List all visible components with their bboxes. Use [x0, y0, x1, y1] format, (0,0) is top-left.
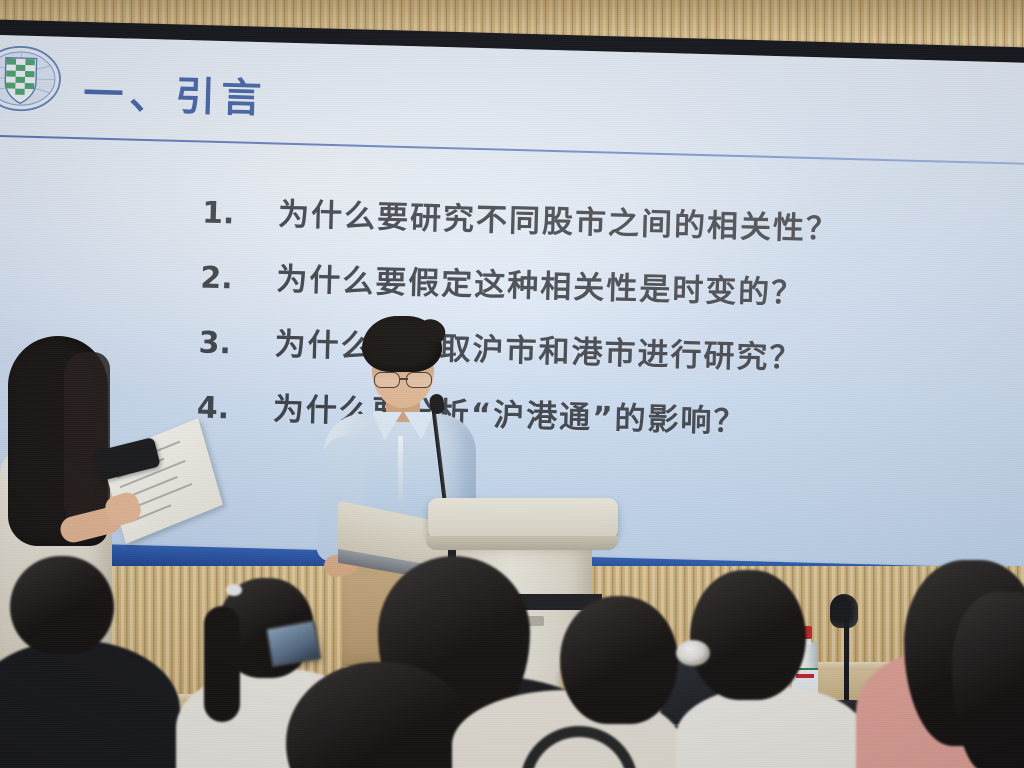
glasses-icon — [372, 372, 434, 387]
audience-head — [952, 592, 1024, 768]
shirt-collar — [372, 412, 434, 442]
audience-head — [10, 556, 114, 654]
lectern-lip — [426, 536, 618, 550]
presenter-hair — [362, 316, 442, 372]
hair-tie — [226, 584, 242, 596]
phone-device — [265, 620, 317, 663]
presentation-photo: 一、引言 1. 为什么要研究不同股市之间的相关性？ 2. 为什么要假定这种相关性… — [0, 0, 1024, 768]
audience-head — [690, 570, 806, 700]
desk-microphone-stem — [844, 620, 849, 704]
hair-scrunchie — [676, 640, 710, 666]
gooseneck-microphone-head — [429, 393, 445, 415]
audience-head — [560, 596, 678, 724]
audience-ponytail — [204, 606, 240, 722]
